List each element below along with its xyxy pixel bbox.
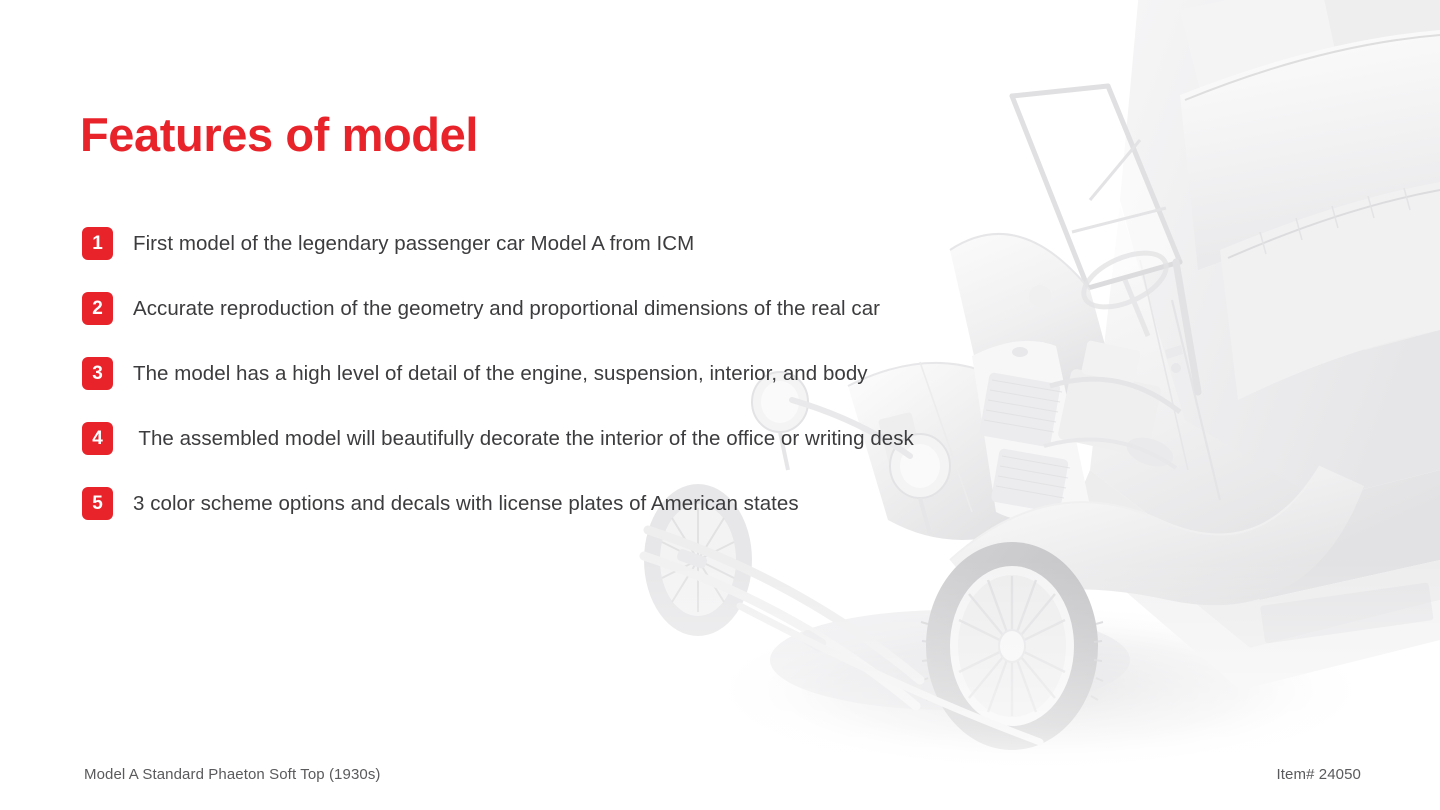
feature-number-badge: 4 — [82, 422, 113, 455]
feature-number-badge: 5 — [82, 487, 113, 520]
list-item: 5 3 color scheme options and decals with… — [82, 487, 1182, 520]
feature-number-badge: 2 — [82, 292, 113, 325]
features-list: 1 First model of the legendary passenger… — [82, 227, 1182, 520]
feature-text: The assembled model will beautifully dec… — [133, 427, 914, 451]
slide-canvas: Features of model 1 First model of the l… — [0, 0, 1440, 810]
feature-number-badge: 3 — [82, 357, 113, 390]
footer-item-number: Item# 24050 — [1277, 766, 1362, 783]
list-item: 2 Accurate reproduction of the geometry … — [82, 292, 1182, 325]
list-item: 1 First model of the legendary passenger… — [82, 227, 1182, 260]
footer-product-name: Model A Standard Phaeton Soft Top (1930s… — [84, 766, 381, 783]
feature-text: The model has a high level of detail of … — [133, 362, 868, 386]
page-title: Features of model — [80, 109, 478, 161]
list-item: 3 The model has a high level of detail o… — [82, 357, 1182, 390]
feature-text: Accurate reproduction of the geometry an… — [133, 297, 880, 321]
feature-text: 3 color scheme options and decals with l… — [133, 492, 799, 516]
feature-number-badge: 1 — [82, 227, 113, 260]
list-item: 4 The assembled model will beautifully d… — [82, 422, 1182, 455]
feature-text: First model of the legendary passenger c… — [133, 232, 694, 256]
